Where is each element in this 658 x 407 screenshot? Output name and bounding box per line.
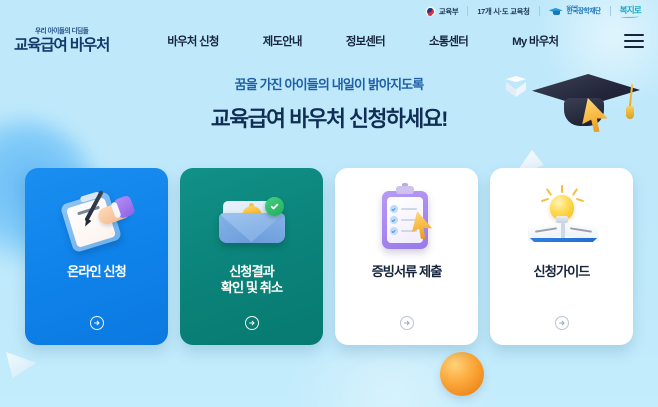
checklist-clipboard-cursor-icon [335, 168, 478, 264]
card-label-line1: 신청결과 [229, 264, 274, 279]
main-navigation: 우리 아이들의 디딤돌 교육급여 바우처 바우처 신청 제도안내 정보센터 소통… [0, 22, 658, 60]
clipboard-pen-hand-icon [25, 168, 168, 264]
utility-label-education-offices: 17개 시·도 교육청 [477, 6, 529, 17]
check-badge-icon [265, 197, 284, 216]
logo-name: 교육급여 바우처 [14, 38, 109, 54]
card-arrow-document-submit[interactable] [400, 316, 414, 330]
card-arrow-result-check[interactable] [245, 316, 259, 330]
lightbulb-book-icon [490, 168, 633, 264]
hero-title: 교육급여 바우처 신청하세요! [0, 102, 658, 133]
background-glow-bottom [263, 347, 523, 407]
nav-item-info-center[interactable]: 정보센터 [324, 33, 407, 49]
card-document-submit[interactable]: 증빙서류 제출 [335, 168, 478, 345]
envelope-bell-check-icon [180, 168, 323, 264]
utility-label-bokjiro: 복지로 [620, 4, 641, 18]
card-arrow-application-guide[interactable] [555, 316, 569, 330]
utility-label-ministry: 교육부 [439, 6, 459, 17]
utility-link-bokjiro[interactable]: 복지로 [611, 4, 650, 18]
taegeuk-icon [425, 6, 436, 17]
nav-item-program-guide[interactable]: 제도안내 [241, 33, 324, 49]
utility-link-kosaf[interactable]: KOSAF 한국장학재단 [540, 6, 610, 16]
nav-item-voucher-application[interactable]: 바우처 신청 [145, 33, 240, 49]
card-label-line2: 확인 및 취소 [221, 280, 282, 295]
nav-item-my-voucher[interactable]: My 바우처 [490, 33, 580, 49]
card-label-online-application: 온라인 신청 [67, 264, 126, 280]
card-label-application-guide: 신청가이드 [534, 264, 590, 280]
utility-link-education-offices[interactable]: 17개 시·도 교육청 [468, 6, 538, 17]
card-label-document-submit: 증빙서류 제출 [372, 264, 442, 280]
nav-menu: 바우처 신청 제도안내 정보센터 소통센터 My 바우처 [145, 33, 618, 49]
card-arrow-online-application[interactable] [90, 316, 104, 330]
card-label-application-result: 신청결과 확인 및 취소 [221, 264, 282, 296]
hero-section: 꿈을 가진 아이들의 내일이 밝아지도록 교육급여 바우처 신청하세요! [0, 60, 658, 133]
nav-item-communication-center[interactable]: 소통센터 [407, 33, 490, 49]
card-online-application[interactable]: 온라인 신청 [25, 168, 168, 345]
hero-subtitle: 꿈을 가진 아이들의 내일이 밝아지도록 [0, 74, 658, 93]
site-logo[interactable]: 우리 아이들의 디딤돌 교육급여 바우처 [14, 29, 109, 54]
utility-link-ministry-of-education[interactable]: 교육부 [416, 6, 468, 17]
utility-bar: 교육부 17개 시·도 교육청 KOSAF 한국장학재단 복지로 [0, 0, 658, 22]
card-application-guide[interactable]: 신청가이드 [490, 168, 633, 345]
card-application-result[interactable]: 신청결과 확인 및 취소 [180, 168, 323, 345]
logo-tagline: 우리 아이들의 디딤돌 [35, 29, 88, 36]
graduation-cap-icon [549, 6, 564, 16]
utility-label-kosaf: 한국장학재단 [567, 9, 601, 16]
hamburger-menu-icon[interactable] [624, 34, 644, 48]
quick-link-cards: 온라인 신청 [0, 168, 658, 345]
